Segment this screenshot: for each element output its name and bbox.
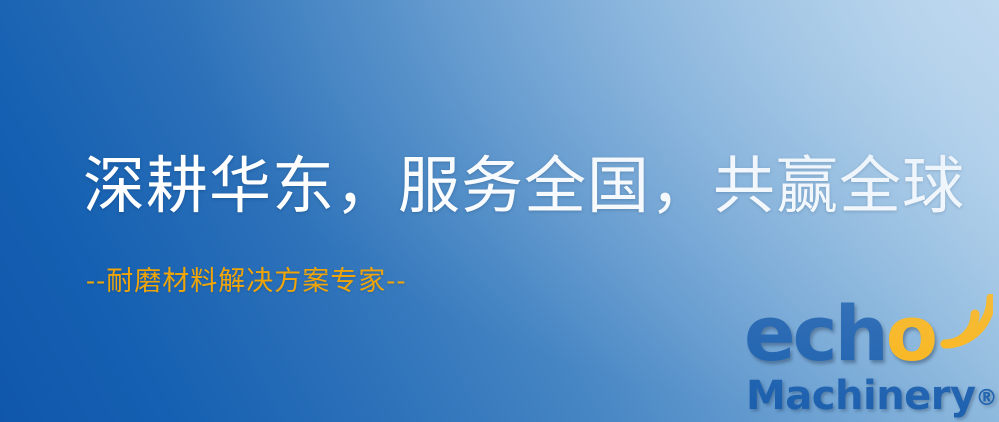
- registered-trademark-icon: ®: [976, 386, 998, 411]
- logo-tagline-text: Machinery: [746, 373, 976, 419]
- logo-word-ech: ech: [744, 289, 886, 378]
- company-logo: echo Machinery®: [744, 296, 996, 422]
- banner-subtitle: --耐磨材料解决方案专家--: [86, 266, 407, 298]
- signal-waves-icon: [927, 294, 993, 360]
- logo-wordmark: echo: [744, 296, 935, 372]
- logo-tagline: Machinery®: [746, 374, 998, 421]
- promotional-banner: 深耕华东，服务全国，共赢全球 --耐磨材料解决方案专家-- echo Machi…: [0, 0, 999, 422]
- banner-headline: 深耕华东，服务全国，共赢全球: [83, 152, 965, 220]
